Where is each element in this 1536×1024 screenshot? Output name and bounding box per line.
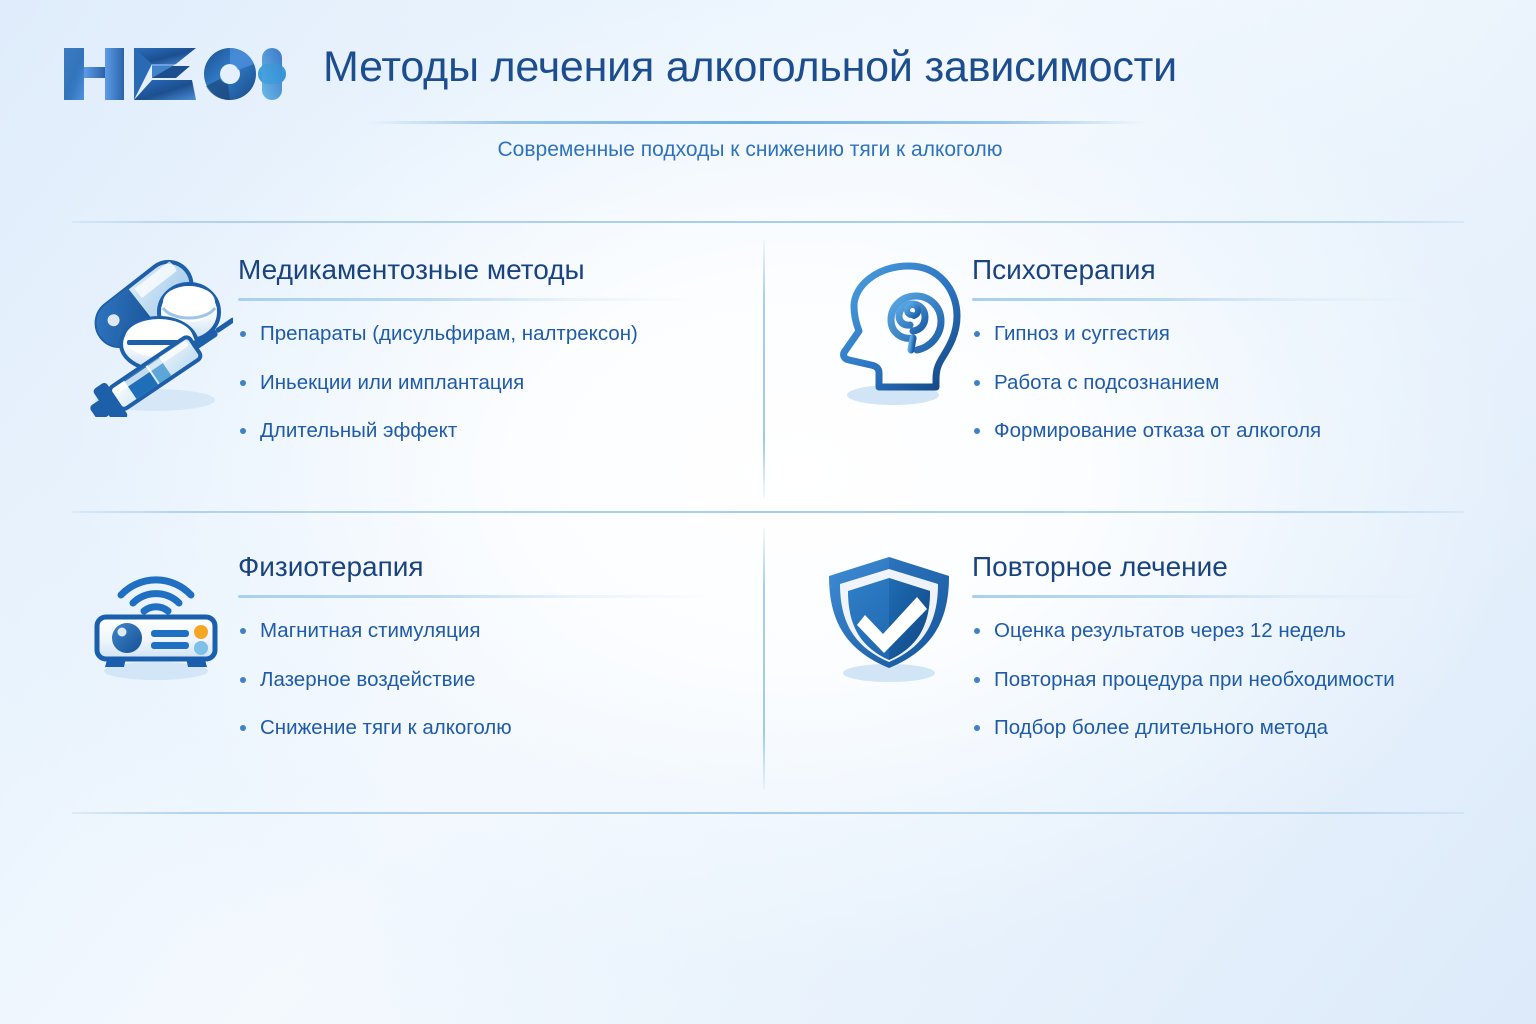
card-title-underline <box>238 298 693 301</box>
list-item-label: Работа с подсознанием <box>994 371 1219 394</box>
divider-top <box>72 221 1464 223</box>
card-title: Психотерапия <box>972 254 1472 286</box>
divider-vertical-bottom <box>763 528 765 790</box>
bullet-dot-icon <box>240 331 246 337</box>
list-item: Иньекции или имплантация <box>238 370 738 397</box>
card-body: Физиотерапия Магнитная стимуляция Лазерн… <box>238 545 738 742</box>
list-item-label: Формирование отказа от алкоголя <box>994 419 1321 442</box>
list-item-label: Магнитная стимуляция <box>260 619 480 642</box>
divider-middle <box>72 511 1464 513</box>
list-item: Повторная процедура при необходимости <box>972 667 1472 694</box>
list-item: Снижение тяги к алкоголю <box>238 715 738 742</box>
card-title-underline <box>238 595 708 598</box>
brand-logo <box>60 38 288 110</box>
list-item-label: Длительный эффект <box>260 419 457 442</box>
bullet-dot-icon <box>974 428 980 434</box>
list-item: Препараты (дисульфирам, налтрексон) <box>238 321 738 348</box>
bullet-dot-icon <box>240 677 246 683</box>
divider-bottom <box>72 812 1464 814</box>
page-title: Методы лечения алкогольной зависимости <box>300 44 1200 90</box>
bullet-dot-icon <box>974 380 980 386</box>
card-physiotherapy: Физиотерапия Магнитная стимуляция Лазерн… <box>78 545 738 742</box>
card-medication: Медикаментозные методы Препараты (дисуль… <box>78 248 738 445</box>
list-item-label: Оценка результатов через 12 недель <box>994 619 1346 642</box>
list-item-label: Подбор более длительного метода <box>994 716 1328 739</box>
bullet-dot-icon <box>974 628 980 634</box>
bullet-dot-icon <box>240 428 246 434</box>
neo-plus-logo-icon <box>60 38 288 110</box>
bullet-dot-icon <box>974 331 980 337</box>
list-item: Лазерное воздействие <box>238 667 738 694</box>
card-bullet-list: Магнитная стимуляция Лазерное воздействи… <box>238 618 738 742</box>
card-body: Повторное лечение Оценка результатов чер… <box>972 545 1472 742</box>
card-title-underline <box>972 298 1427 301</box>
card-psychotherapy: Психотерапия Гипноз и суггестия Работа с… <box>812 248 1472 445</box>
title-divider <box>365 121 1145 124</box>
list-item-label: Лазерное воздействие <box>260 668 475 691</box>
list-item-label: Препараты (дисульфирам, налтрексон) <box>260 322 638 345</box>
card-bullet-list: Оценка результатов через 12 недель Повто… <box>972 618 1472 742</box>
divider-vertical-top <box>763 240 765 498</box>
list-item: Формирование отказа от алкоголя <box>972 418 1472 445</box>
list-item-label: Гипноз и суггестия <box>994 322 1170 345</box>
card-title: Физиотерапия <box>238 551 738 583</box>
list-item: Оценка результатов через 12 недель <box>972 618 1472 645</box>
list-item-label: Снижение тяги к алкоголю <box>260 716 512 739</box>
card-title: Повторное лечение <box>972 551 1472 583</box>
page-subtitle: Современные подходы к снижению тяги к ал… <box>300 138 1200 162</box>
bullet-dot-icon <box>974 725 980 731</box>
bullet-dot-icon <box>974 677 980 683</box>
list-item: Гипноз и суггестия <box>972 321 1472 348</box>
bullet-dot-icon <box>240 725 246 731</box>
card-title: Медикаментозные методы <box>238 254 738 286</box>
card-body: Психотерапия Гипноз и суггестия Работа с… <box>972 248 1472 445</box>
list-item: Магнитная стимуляция <box>238 618 738 645</box>
card-repeat-treatment: Повторное лечение Оценка результатов чер… <box>812 545 1472 742</box>
list-item: Длительный эффект <box>238 418 738 445</box>
bullet-dot-icon <box>240 380 246 386</box>
infographic-canvas: Методы лечения алкогольной зависимости С… <box>0 0 1536 1024</box>
card-title-underline <box>972 595 1427 598</box>
pills-syringe-icon <box>78 248 238 423</box>
shield-check-icon <box>812 545 972 695</box>
bullet-dot-icon <box>240 628 246 634</box>
card-body: Медикаментозные методы Препараты (дисуль… <box>238 248 738 445</box>
list-item: Подбор более длительного метода <box>972 715 1472 742</box>
list-item-label: Повторная процедура при необходимости <box>994 668 1395 691</box>
card-bullet-list: Гипноз и суггестия Работа с подсознанием… <box>972 321 1472 445</box>
list-item-label: Иньекции или имплантация <box>260 371 524 394</box>
head-spiral-icon <box>812 248 972 423</box>
card-bullet-list: Препараты (дисульфирам, налтрексон) Инье… <box>238 321 738 445</box>
therapy-device-icon <box>78 545 238 695</box>
list-item: Работа с подсознанием <box>972 370 1472 397</box>
